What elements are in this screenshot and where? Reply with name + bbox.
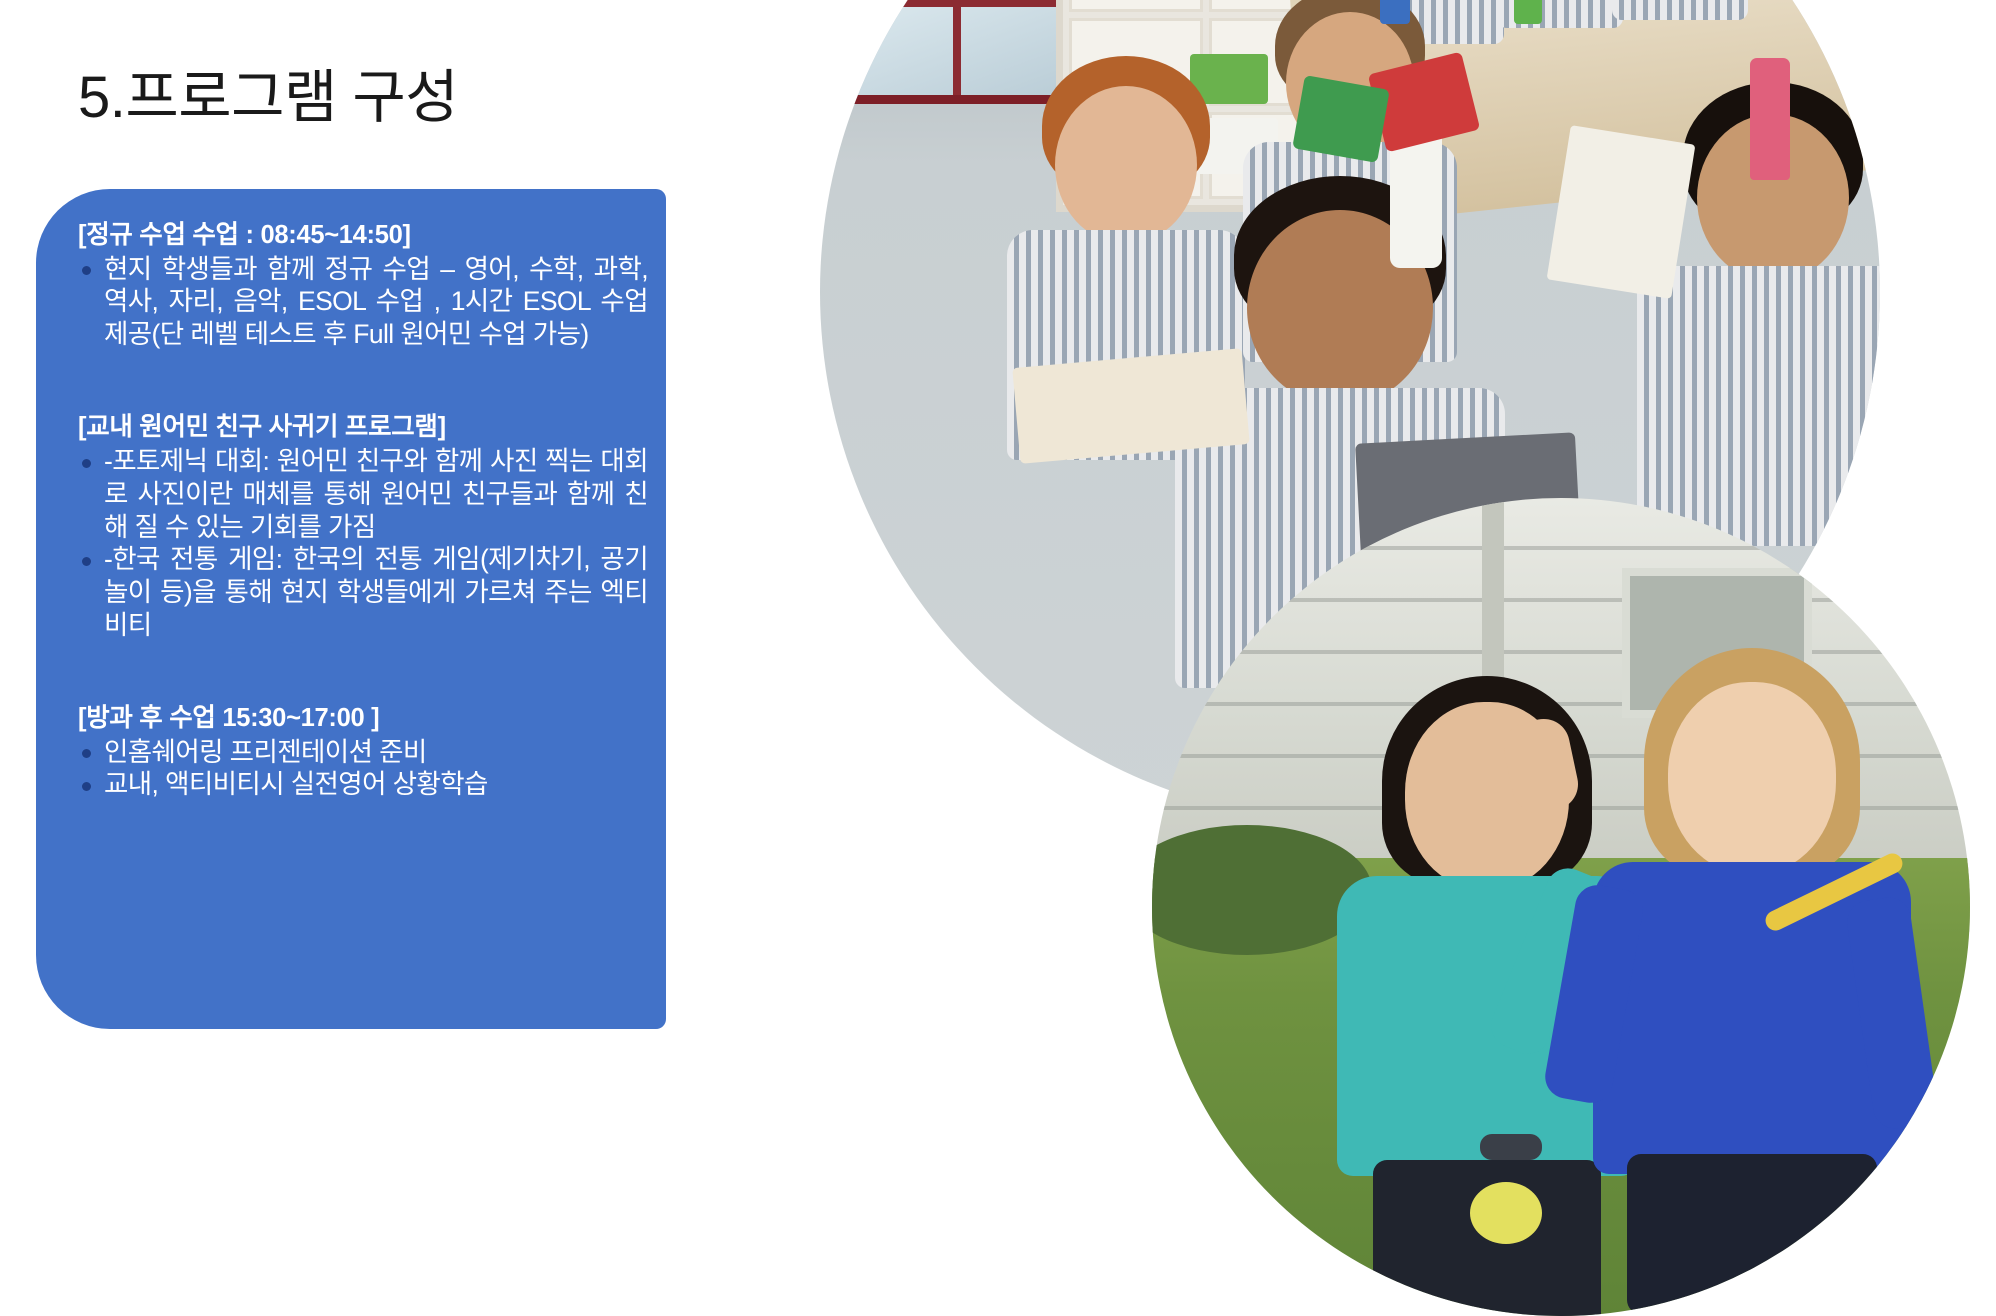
dark-shorts	[1627, 1154, 1877, 1314]
section-heading-after-school: [방과 후 수업 15:30~17:00 ]	[78, 702, 648, 735]
section-heading-buddy-program: [교내 원어민 친구 사귀기 프로그램]	[78, 411, 648, 444]
bullet-text: -한국 전통 게임: 한국의 전통 게임(제기차기, 공기 놀이 등)을 통해 …	[104, 544, 648, 640]
desk-book-open	[1012, 348, 1249, 464]
water-bottle-green	[1514, 0, 1542, 24]
section-buddy-program: [교내 원어민 친구 사귀기 프로그램] -포토제닉 대회: 원어민 친구와 함…	[78, 411, 648, 642]
bullet-buddy-program-2: -한국 전통 게임: 한국의 전통 게임(제기차기, 공기 놀이 등)을 통해 …	[78, 543, 648, 642]
wristband	[1480, 1134, 1542, 1160]
bullet-dot-icon	[82, 266, 91, 275]
program-details-panel: [정규 수업 수업 : 08:45~14:50] 현지 학생들과 함께 정규 수…	[36, 189, 666, 1029]
students-photo	[1152, 498, 1970, 1316]
bullet-dot-icon	[82, 749, 91, 758]
section-after-school: [방과 후 수업 15:30~17:00 ] 인홈쉐어링 프리젠테이션 준비 교…	[78, 702, 648, 801]
held-fruit	[1470, 1182, 1542, 1244]
bullet-dot-icon	[82, 459, 91, 468]
bullet-text: -포토제닉 대회: 원어민 친구와 함께 사진 찍는 대회로 사진이란 매체를 …	[104, 446, 648, 542]
spacer	[78, 377, 648, 411]
section-regular-class: [정규 수업 수업 : 08:45~14:50] 현지 학생들과 함께 정규 수…	[78, 219, 648, 351]
page-title: 5.프로그램 구성	[78, 66, 458, 130]
bullet-after-school-1: 인홈쉐어링 프리젠테이션 준비	[78, 736, 648, 769]
bullet-text: 교내, 액티비티시 실전영어 상황학습	[104, 769, 488, 799]
section-heading-regular-class: [정규 수업 수업 : 08:45~14:50]	[78, 219, 648, 252]
green-folder	[1292, 75, 1390, 163]
bullet-text: 현지 학생들과 함께 정규 수업 – 영어, 수학, 과학, 역사, 자리, 음…	[104, 254, 648, 350]
bullet-after-school-2: 교내, 액티비티시 실전영어 상황학습	[78, 768, 648, 801]
water-bottle-pink	[1750, 58, 1790, 180]
water-bottle-blue	[1380, 0, 1410, 24]
bullet-regular-class-1: 현지 학생들과 함께 정규 수업 – 영어, 수학, 과학, 역사, 자리, 음…	[78, 253, 648, 352]
bullet-dot-icon	[82, 782, 91, 791]
student-right	[1572, 648, 1932, 1316]
held-book	[1547, 125, 1696, 299]
face	[1668, 682, 1836, 874]
bullet-dot-icon	[82, 557, 91, 566]
spacer	[78, 668, 648, 702]
bullet-buddy-program-1: -포토제닉 대회: 원어민 친구와 함께 사진 찍는 대회로 사진이란 매체를 …	[78, 445, 648, 544]
bullet-text: 인홈쉐어링 프리젠테이션 준비	[104, 737, 427, 767]
